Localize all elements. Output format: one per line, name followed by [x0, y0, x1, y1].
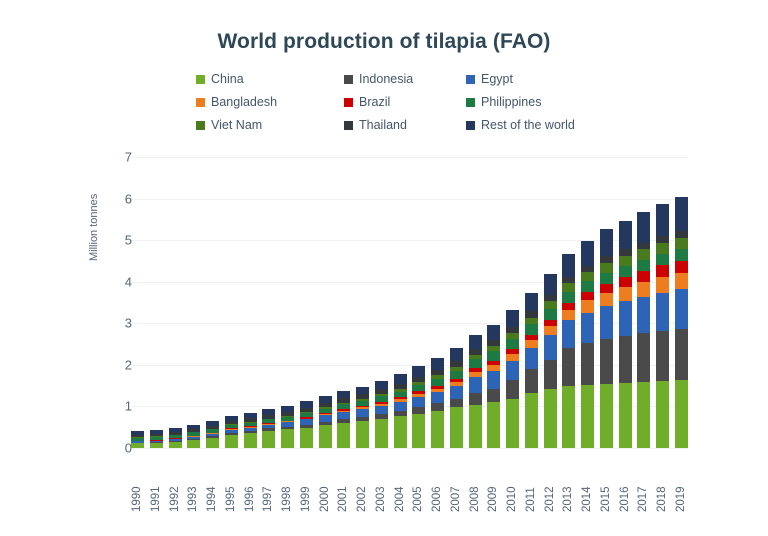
bar-segment [281, 429, 294, 448]
x-tick-label: 2012 [544, 452, 557, 512]
bar-column[interactable] [169, 157, 182, 448]
bar-segment [581, 343, 594, 385]
bar-segment [675, 261, 688, 273]
bar-segment [487, 371, 500, 389]
bar-segment [562, 292, 575, 303]
x-tick-label: 2018 [656, 452, 669, 512]
bar-segment [319, 415, 332, 422]
x-tick-label: 2001 [337, 452, 350, 512]
bar-column[interactable] [544, 157, 557, 448]
bar-segment [675, 197, 688, 230]
chart-container: World production of tilapia (FAO) ChinaI… [0, 0, 768, 536]
bar-segment [656, 243, 669, 254]
bar-segment [431, 358, 444, 370]
bar-column[interactable] [431, 157, 444, 448]
bar-segment [431, 403, 444, 410]
bar-segment [544, 295, 557, 302]
bar-segment [637, 249, 650, 260]
bar-column[interactable] [375, 157, 388, 448]
bar-segment [300, 428, 313, 448]
bar-column[interactable] [506, 157, 519, 448]
bar-segment [356, 387, 369, 395]
bar-segment [356, 421, 369, 448]
bar-segment [469, 405, 482, 448]
bar-column[interactable] [337, 157, 350, 448]
bar-segment [412, 385, 425, 392]
bar-segment [525, 369, 538, 393]
bar-segment [544, 326, 557, 336]
bar-segment [337, 423, 350, 448]
bar-segment [469, 335, 482, 349]
bar-segment [637, 297, 650, 334]
y-axis-ticks: 01234567 [98, 0, 132, 536]
bar-segment [562, 303, 575, 310]
bar-segment [525, 393, 538, 448]
x-tick-label: 1991 [150, 452, 163, 512]
bar-segment [169, 442, 182, 448]
bar-segment [656, 204, 669, 236]
bar-segment [225, 435, 238, 448]
bar-column[interactable] [206, 157, 219, 448]
x-tick-label: 2006 [431, 452, 444, 512]
bar-segment [394, 402, 407, 411]
x-tick-label: 2010 [506, 452, 519, 512]
bar-segment [450, 399, 463, 408]
bar-segment [656, 277, 669, 293]
bar-column[interactable] [600, 157, 613, 448]
bar-segment [619, 383, 632, 448]
bar-segment [525, 348, 538, 369]
bar-segment [525, 318, 538, 325]
x-tick-label: 2004 [394, 452, 407, 512]
y-tick-label: 2 [106, 357, 132, 372]
bar-segment [562, 254, 575, 277]
bar-segment [600, 284, 613, 293]
bar-segment [619, 249, 632, 256]
bar-segment [506, 310, 519, 327]
bar-segment [412, 414, 425, 449]
x-tick-label: 2015 [600, 452, 613, 512]
bar-segment [487, 389, 500, 403]
bar-segment [469, 393, 482, 405]
bar-segment [619, 277, 632, 287]
bar-segment [544, 309, 557, 320]
bar-segment [506, 399, 519, 448]
y-tick-label: 7 [106, 150, 132, 165]
bar-segment [675, 231, 688, 238]
bar-segment [656, 293, 669, 331]
bar-segment [487, 325, 500, 340]
bar-segment [637, 260, 650, 271]
bar-column[interactable] [412, 157, 425, 448]
bar-segment [675, 380, 688, 448]
x-tick-label: 1992 [169, 452, 182, 512]
bar-column[interactable] [469, 157, 482, 448]
x-tick-label: 1993 [187, 452, 200, 512]
bar-segment [506, 380, 519, 399]
x-tick-label: 2011 [525, 452, 538, 512]
bar-segment [619, 301, 632, 336]
bar-column[interactable] [319, 157, 332, 448]
bar-segment [187, 440, 200, 448]
bar-segment [637, 382, 650, 448]
bar-segment [562, 310, 575, 321]
bar-segment [431, 411, 444, 448]
y-tick-label: 1 [106, 399, 132, 414]
bar-segment [656, 236, 669, 243]
bar-segment [581, 281, 594, 292]
bar-segment [562, 320, 575, 348]
y-tick-label: 4 [106, 274, 132, 289]
bar-segment [619, 336, 632, 383]
bar-column[interactable] [656, 157, 669, 448]
bar-segment [581, 266, 594, 273]
bar-segment [619, 287, 632, 301]
bar-segment [131, 443, 144, 448]
bar-segment [300, 401, 313, 408]
bar-segment [637, 271, 650, 282]
bar-column[interactable] [150, 157, 163, 448]
bar-segment [450, 407, 463, 448]
bar-segment [394, 374, 407, 384]
bar-column[interactable] [487, 157, 500, 448]
bar-column[interactable] [394, 157, 407, 448]
bar-segment [150, 443, 163, 448]
bar-segment [431, 392, 444, 403]
bar-segment [262, 431, 275, 448]
bar-column[interactable] [619, 157, 632, 448]
bar-segment [600, 339, 613, 384]
x-tick-label: 1990 [131, 452, 144, 512]
bar-segment [319, 425, 332, 448]
x-tick-label: 2016 [619, 452, 632, 512]
x-tick-label: 1998 [281, 452, 294, 512]
bar-segment [206, 438, 219, 448]
x-tick-label: 2000 [319, 452, 332, 512]
x-tick-label: 2013 [562, 452, 575, 512]
bar-column[interactable] [187, 157, 200, 448]
bar-segment [375, 419, 388, 448]
bar-segment [562, 277, 575, 284]
bar-column[interactable] [244, 157, 257, 448]
bar-segment [581, 313, 594, 344]
bar-segment [562, 386, 575, 448]
bar-column[interactable] [450, 157, 463, 448]
bar-column[interactable] [356, 157, 369, 448]
bar-segment [412, 366, 425, 376]
bar-segment [600, 273, 613, 284]
y-tick-label: 3 [106, 316, 132, 331]
bar-segment [675, 289, 688, 328]
gridline [131, 448, 688, 449]
x-tick-label: 2007 [450, 452, 463, 512]
y-tick-label: 0 [106, 441, 132, 456]
bar-segment [337, 391, 350, 398]
x-axis-ticks: 1990199119921993199419951996199719981999… [131, 452, 688, 512]
bar-segment [619, 221, 632, 250]
bar-segment [656, 381, 669, 448]
bar-segment [581, 300, 594, 312]
x-tick-label: 2002 [356, 452, 369, 512]
bar-segment [600, 293, 613, 306]
bars-group [131, 157, 688, 448]
bar-segment [637, 333, 650, 382]
bar-column[interactable] [562, 157, 575, 448]
bar-column[interactable] [300, 157, 313, 448]
x-tick-label: 1999 [300, 452, 313, 512]
bar-segment [600, 256, 613, 263]
bar-column[interactable] [581, 157, 594, 448]
bar-segment [337, 412, 350, 419]
x-tick-label: 1996 [244, 452, 257, 512]
bar-segment [450, 386, 463, 399]
bar-segment [487, 402, 500, 448]
y-tick-label: 6 [106, 191, 132, 206]
bar-segment [375, 406, 388, 414]
bar-segment [506, 339, 519, 349]
x-tick-label: 2003 [375, 452, 388, 512]
bar-segment [544, 360, 557, 389]
x-tick-label: 2009 [487, 452, 500, 512]
x-tick-label: 2017 [637, 452, 650, 512]
bar-segment [525, 340, 538, 348]
bar-segment [581, 272, 594, 281]
y-tick-label: 5 [106, 233, 132, 248]
bar-segment [600, 384, 613, 448]
bar-segment [487, 351, 500, 361]
bar-segment [431, 379, 444, 386]
bar-segment [619, 256, 632, 266]
bar-column[interactable] [262, 157, 275, 448]
bar-segment [637, 282, 650, 297]
bar-segment [319, 396, 332, 403]
bar-segment [375, 381, 388, 390]
bar-segment [544, 301, 557, 308]
bar-segment [525, 293, 538, 312]
bar-segment [525, 324, 538, 334]
bar-segment [656, 331, 669, 381]
plot-area: Million tonnes 01234567 1990199119921993… [0, 0, 768, 536]
bar-column[interactable] [675, 157, 688, 448]
bar-segment [450, 348, 463, 361]
bar-segment [356, 409, 369, 417]
bar-segment [544, 389, 557, 448]
bar-column[interactable] [281, 157, 294, 448]
x-tick-label: 1994 [206, 452, 219, 512]
bar-segment [544, 335, 557, 360]
bar-segment [562, 348, 575, 386]
x-tick-label: 2005 [412, 452, 425, 512]
x-tick-label: 2008 [469, 452, 482, 512]
bar-segment [450, 371, 463, 379]
x-tick-label: 2014 [581, 452, 594, 512]
x-tick-label: 2019 [675, 452, 688, 512]
bar-segment [600, 306, 613, 339]
bar-segment [581, 292, 594, 300]
bar-segment [675, 238, 688, 250]
bar-segment [469, 377, 482, 393]
bar-segment [544, 274, 557, 295]
bar-segment [394, 416, 407, 448]
bar-segment [506, 354, 519, 361]
bar-segment [675, 329, 688, 380]
bar-segment [600, 229, 613, 256]
bar-segment [675, 249, 688, 260]
bar-segment [619, 266, 632, 277]
bar-segment [675, 273, 688, 289]
x-tick-label: 1995 [225, 452, 238, 512]
bar-column[interactable] [225, 157, 238, 448]
bar-segment [581, 241, 594, 266]
bar-column[interactable] [525, 157, 538, 448]
bar-column[interactable] [131, 157, 144, 448]
bar-segment [656, 254, 669, 265]
bar-segment [244, 433, 257, 448]
bar-segment [637, 212, 650, 242]
bar-segment [600, 263, 613, 273]
bar-segment [506, 361, 519, 380]
bar-segment [562, 283, 575, 291]
bar-segment [412, 397, 425, 407]
bar-segment [469, 359, 482, 368]
bar-segment [656, 265, 669, 277]
bar-column[interactable] [637, 157, 650, 448]
bar-segment [637, 243, 650, 250]
x-tick-label: 1997 [262, 452, 275, 512]
bar-segment [581, 385, 594, 448]
